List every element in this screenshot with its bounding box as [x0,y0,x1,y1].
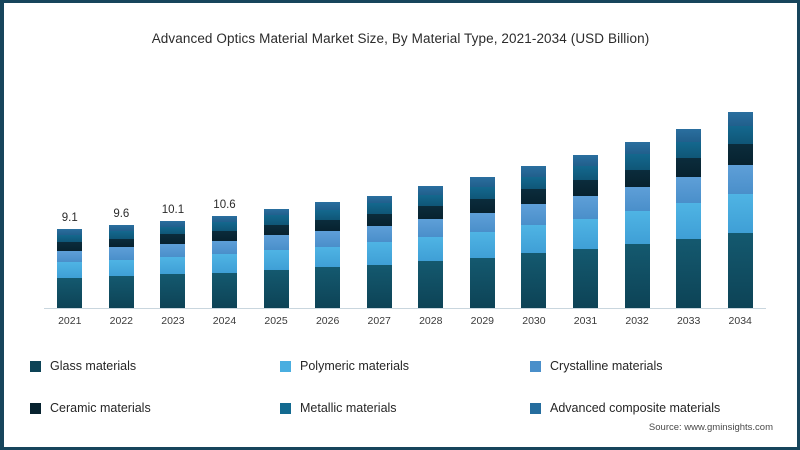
bar-segment[interactable] [418,195,443,206]
bar-segment[interactable] [315,267,340,308]
bar-segment[interactable] [418,206,443,219]
bar-segment[interactable] [521,189,546,204]
legend-item-advanced-composite-materials[interactable]: Advanced composite materials [530,401,780,415]
bar-segment[interactable] [625,244,650,308]
chart-canvas: Advanced Optics Material Market Size, By… [6,5,795,445]
bar-segment[interactable] [212,254,237,272]
bar-segment[interactable] [315,247,340,268]
plot-area: 9.19.610.110.6 [44,83,766,308]
x-axis-tick-label: 2025 [250,315,302,327]
bar-segment[interactable] [728,112,753,127]
bar-segment[interactable] [264,270,289,308]
bar-segment[interactable] [109,260,134,276]
bar-segment[interactable] [676,142,701,158]
legend-item-polymeric-materials[interactable]: Polymeric materials [280,359,530,373]
x-axis-tick-label: 2033 [663,315,715,327]
bar-column[interactable]: 10.6 [212,216,237,308]
x-axis-tick-label: 2026 [302,315,354,327]
bar-segment[interactable] [676,203,701,238]
legend-swatch-icon [30,403,41,414]
bar-column[interactable] [676,129,701,308]
bar-segment[interactable] [470,187,495,199]
bar-segment[interactable] [521,225,546,254]
x-axis-line [44,308,766,309]
legend-swatch-icon [280,361,291,372]
bar-column[interactable] [521,166,546,308]
bar-column[interactable] [418,186,443,308]
bar-column[interactable]: 10.1 [160,221,185,308]
bar-segment[interactable] [573,219,598,249]
x-axis-tick-label: 2030 [508,315,560,327]
legend-swatch-icon [530,403,541,414]
bar-column[interactable] [315,202,340,308]
bar-segment[interactable] [521,166,546,176]
bar-segment[interactable] [160,244,185,257]
bar-segment[interactable] [470,213,495,232]
bar-segment[interactable] [57,235,82,242]
bar-column[interactable] [470,177,495,308]
legend-swatch-icon [280,403,291,414]
bar-segment[interactable] [470,232,495,258]
bar-segment[interactable] [57,262,82,278]
bar-segment[interactable] [109,239,134,248]
bar-segment[interactable] [728,144,753,165]
legend-label: Glass materials [50,359,136,373]
bar-value-label: 10.1 [162,204,184,216]
bar-segment[interactable] [625,142,650,154]
bar-segment[interactable] [573,249,598,308]
bar-segment[interactable] [676,129,701,142]
bar-segment[interactable] [625,154,650,170]
chart-figure: Advanced Optics Material Market Size, By… [0,0,800,450]
bar-segment[interactable] [573,155,598,166]
bar-segment[interactable] [367,242,392,265]
bar-segment[interactable] [264,235,289,250]
bar-segment[interactable] [160,257,185,274]
bar-segment[interactable] [109,276,134,308]
bar-segment[interactable] [676,158,701,177]
legend-label: Crystalline materials [550,359,663,373]
bar-segment[interactable] [470,199,495,213]
bar-segment[interactable] [264,209,289,216]
bar-segment[interactable] [521,253,546,308]
bar-segment[interactable] [573,180,598,196]
bar-segment[interactable] [109,247,134,259]
legend-item-ceramic-materials[interactable]: Ceramic materials [30,401,280,415]
bar-segment[interactable] [625,187,650,211]
source-attribution: Source: www.gminsights.com [649,422,773,433]
bar-column[interactable] [625,142,650,308]
bar-segment[interactable] [418,261,443,308]
bar-segment[interactable] [367,203,392,213]
legend-swatch-icon [30,361,41,372]
bar-segment[interactable] [315,202,340,210]
bar-segment[interactable] [521,177,546,190]
x-axis-tick-label: 2023 [147,315,199,327]
legend-label: Ceramic materials [50,401,151,415]
bar-segment[interactable] [367,226,392,242]
bar-segment[interactable] [264,215,289,225]
x-axis-tick-label: 2022 [96,315,148,327]
bar-segment[interactable] [212,222,237,231]
bar-segment[interactable] [470,258,495,308]
bar-segment[interactable] [676,177,701,203]
bar-column[interactable] [264,209,289,308]
bar-segment[interactable] [728,194,753,233]
bar-segment[interactable] [418,186,443,195]
bar-segment[interactable] [728,233,753,308]
bar-column[interactable] [573,155,598,308]
bar-segment[interactable] [160,234,185,244]
bar-column[interactable] [367,196,392,308]
bar-segment[interactable] [315,210,340,220]
x-axis-tick-label: 2028 [405,315,457,327]
bar-segment[interactable] [676,239,701,308]
bar-segment[interactable] [728,165,753,194]
legend-label: Polymeric materials [300,359,409,373]
legend-swatch-icon [530,361,541,372]
chart-title: Advanced Optics Material Market Size, By… [6,31,795,46]
bar-segment[interactable] [573,196,598,219]
legend-item-glass-materials[interactable]: Glass materials [30,359,280,373]
x-axis-tick-label: 2031 [560,315,612,327]
bar-segment[interactable] [367,214,392,226]
legend-label: Advanced composite materials [550,401,720,415]
x-axis-tick-label: 2027 [353,315,405,327]
bar-segment[interactable] [315,231,340,247]
bar-segment[interactable] [212,273,237,308]
bar-segment[interactable] [470,177,495,187]
bar-segment[interactable] [315,220,340,231]
bar-segment[interactable] [367,265,392,308]
x-axis-tick-label: 2021 [44,315,96,327]
bar-segment[interactable] [573,166,598,180]
bar-segment[interactable] [625,211,650,244]
legend-item-crystalline-materials[interactable]: Crystalline materials [530,359,780,373]
bar-value-label: 10.6 [213,199,235,211]
bar-segment[interactable] [212,241,237,255]
bar-segment[interactable] [160,227,185,235]
bar-segment[interactable] [57,242,82,251]
bar-segment[interactable] [625,170,650,187]
bar-segment[interactable] [160,274,185,308]
bar-segment[interactable] [418,219,443,237]
x-axis-tick-label: 2034 [714,315,766,327]
bar-column[interactable]: 9.1 [57,229,82,308]
bar-value-label: 9.1 [62,212,78,224]
bar-segment[interactable] [212,231,237,241]
bar-column[interactable] [728,112,753,308]
bar-segment[interactable] [109,231,134,239]
legend-item-metallic-materials[interactable]: Metallic materials [280,401,530,415]
legend-row-1: Glass materials Polymeric materials Crys… [30,345,782,387]
x-axis-tick-label: 2024 [199,315,251,327]
bar-segment[interactable] [264,250,289,270]
bar-segment[interactable] [418,237,443,261]
bar-segment[interactable] [57,278,82,308]
chart-legend: Glass materials Polymeric materials Crys… [30,345,782,429]
bar-segment[interactable] [521,204,546,225]
bar-column[interactable]: 9.6 [109,225,134,308]
bar-value-label: 9.6 [113,208,129,220]
bar-segment[interactable] [728,126,753,144]
bar-segment[interactable] [57,251,82,262]
legend-label: Metallic materials [300,401,397,415]
x-axis-tick-label: 2032 [611,315,663,327]
bar-segment[interactable] [264,225,289,235]
x-axis-tick-label: 2029 [457,315,509,327]
bar-segment[interactable] [367,196,392,204]
